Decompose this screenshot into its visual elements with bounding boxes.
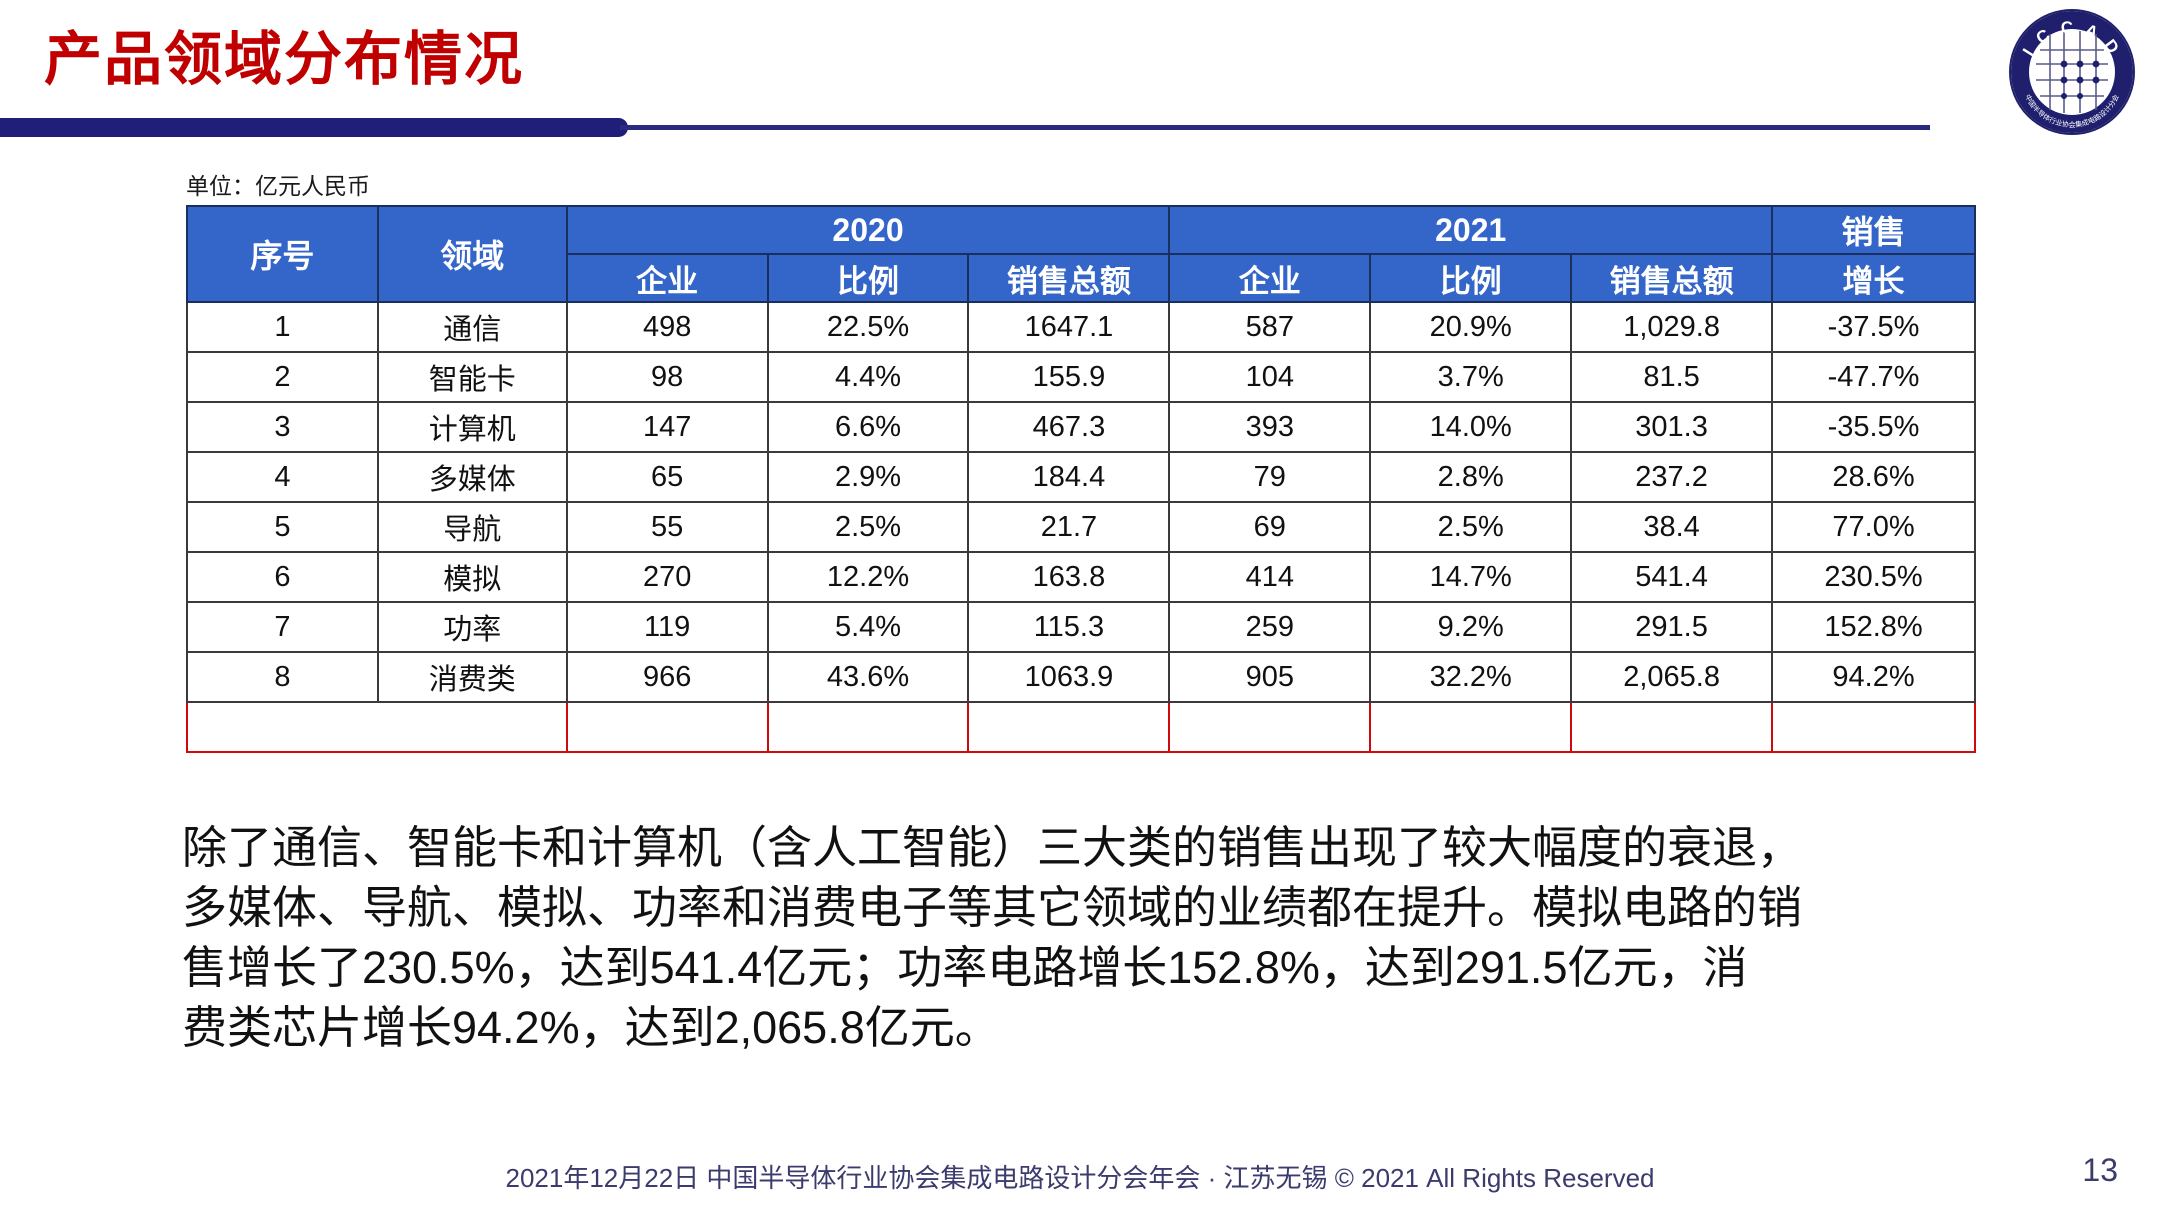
body-line-3: 售增长了230.5%，达到541.4亿元；功率电路增长152.8%，达到291.… — [182, 938, 2002, 998]
cell-growth: -47.7% — [1772, 352, 1975, 402]
cell-2020-ratio: 43.6% — [768, 652, 969, 702]
col-header-index: 序号 — [187, 206, 378, 302]
cell-field: 多媒体 — [378, 452, 567, 502]
cell-growth: 77.0% — [1772, 502, 1975, 552]
cell-2020-enterprises: 966 — [567, 652, 768, 702]
cell-total-2021-ratio: 100.0% — [1370, 702, 1571, 752]
cell-index: 3 — [187, 402, 378, 452]
cell-index: 2 — [187, 352, 378, 402]
product-field-table: 序号 领域 2020 2021 销售 企业 比例 销售总额 企业 比例 销售总额… — [186, 205, 1976, 753]
cell-2020-enterprises: 147 — [567, 402, 768, 452]
page-title: 产品领域分布情况 — [44, 12, 524, 96]
cell-2020-sales: 1647.1 — [968, 302, 1169, 352]
col-header-2020-enterprises: 企业 — [567, 254, 768, 302]
col-group-2020: 2020 — [567, 206, 1170, 254]
cell-2021-ratio: 3.7% — [1370, 352, 1571, 402]
cell-total-label: 总计 — [187, 702, 567, 752]
cell-field: 智能卡 — [378, 352, 567, 402]
cell-2020-sales: 184.4 — [968, 452, 1169, 502]
cell-2021-enterprises: 79 — [1169, 452, 1370, 502]
table-header: 序号 领域 2020 2021 销售 企业 比例 销售总额 企业 比例 销售总额… — [187, 206, 1975, 302]
cell-2021-ratio: 20.9% — [1370, 302, 1571, 352]
col-header-2021-enterprises: 企业 — [1169, 254, 1370, 302]
cell-2020-ratio: 2.9% — [768, 452, 969, 502]
cell-2021-ratio: 9.2% — [1370, 602, 1571, 652]
table-header-row-group: 序号 领域 2020 2021 销售 — [187, 206, 1975, 254]
col-header-2021-sales: 销售总额 — [1571, 254, 1772, 302]
iccad-logo: I C C A D 中国半导体行业协会集成电路设计分会 — [2006, 6, 2138, 138]
cell-growth: -37.5% — [1772, 302, 1975, 352]
body-line-4: 费类芯片增长94.2%，达到2,065.8亿元。 — [182, 998, 2002, 1058]
cell-index: 7 — [187, 602, 378, 652]
cell-2021-sales: 237.2 — [1571, 452, 1772, 502]
table-row: 1 通信 498 22.5% 1647.1 587 20.9% 1,029.8 … — [187, 302, 1975, 352]
table-total-row: 总计 2218 100.0% 3819.4 2810 100.0% 4,586.… — [187, 702, 1975, 752]
cell-2021-enterprises: 905 — [1169, 652, 1370, 702]
table-row: 5 导航 55 2.5% 21.7 69 2.5% 38.4 77.0% — [187, 502, 1975, 552]
table-row: 3 计算机 147 6.6% 467.3 393 14.0% 301.3 -35… — [187, 402, 1975, 452]
cell-field: 计算机 — [378, 402, 567, 452]
cell-field: 功率 — [378, 602, 567, 652]
cell-total-2020-enterprises: 2218 — [567, 702, 768, 752]
page-number: 13 — [2082, 1152, 2118, 1189]
col-header-2020-sales: 销售总额 — [968, 254, 1169, 302]
iccad-logo-icon: I C C A D 中国半导体行业协会集成电路设计分会 — [2006, 6, 2138, 138]
body-line-1: 除了通信、智能卡和计算机（含人工智能）三大类的销售出现了较大幅度的衰退， — [182, 818, 2002, 878]
cell-2020-sales: 21.7 — [968, 502, 1169, 552]
cell-growth: -35.5% — [1772, 402, 1975, 452]
col-header-growth-bottom: 增长 — [1772, 254, 1975, 302]
cell-field: 消费类 — [378, 652, 567, 702]
cell-2021-enterprises: 587 — [1169, 302, 1370, 352]
footer-copyright: 2021年12月22日 中国半导体行业协会集成电路设计分会年会 · 江苏无锡 ©… — [0, 1158, 2160, 1195]
cell-2021-sales: 81.5 — [1571, 352, 1772, 402]
cell-2020-enterprises: 119 — [567, 602, 768, 652]
col-header-growth-top: 销售 — [1772, 206, 1975, 254]
cell-field: 模拟 — [378, 552, 567, 602]
cell-2020-enterprises: 98 — [567, 352, 768, 402]
cell-2021-ratio: 14.0% — [1370, 402, 1571, 452]
table-row: 6 模拟 270 12.2% 163.8 414 14.7% 541.4 230… — [187, 552, 1975, 602]
cell-2020-sales: 163.8 — [968, 552, 1169, 602]
col-group-2021: 2021 — [1169, 206, 1772, 254]
cell-2021-sales: 2,065.8 — [1571, 652, 1772, 702]
cell-index: 1 — [187, 302, 378, 352]
cell-field: 通信 — [378, 302, 567, 352]
cell-2020-sales: 467.3 — [968, 402, 1169, 452]
cell-2020-sales: 115.3 — [968, 602, 1169, 652]
cell-2020-enterprises: 270 — [567, 552, 768, 602]
cell-index: 4 — [187, 452, 378, 502]
data-table: 序号 领域 2020 2021 销售 企业 比例 销售总额 企业 比例 销售总额… — [186, 205, 1976, 753]
cell-2021-sales: 291.5 — [1571, 602, 1772, 652]
table-row: 8 消费类 966 43.6% 1063.9 905 32.2% 2,065.8… — [187, 652, 1975, 702]
cell-total-growth: 100.0% — [1772, 702, 1975, 752]
cell-field: 导航 — [378, 502, 567, 552]
table-body: 1 通信 498 22.5% 1647.1 587 20.9% 1,029.8 … — [187, 302, 1975, 752]
cell-index: 8 — [187, 652, 378, 702]
cell-2021-ratio: 2.5% — [1370, 502, 1571, 552]
cell-2020-enterprises: 55 — [567, 502, 768, 552]
cell-index: 5 — [187, 502, 378, 552]
cell-2020-enterprises: 65 — [567, 452, 768, 502]
cell-index: 6 — [187, 552, 378, 602]
cell-growth: 94.2% — [1772, 652, 1975, 702]
cell-2021-enterprises: 104 — [1169, 352, 1370, 402]
title-accent-bar — [0, 118, 628, 137]
table-row: 7 功率 119 5.4% 115.3 259 9.2% 291.5 152.8… — [187, 602, 1975, 652]
cell-2020-sales: 1063.9 — [968, 652, 1169, 702]
cell-2021-sales: 301.3 — [1571, 402, 1772, 452]
cell-2020-ratio: 5.4% — [768, 602, 969, 652]
title-accent-rule — [620, 125, 1930, 130]
cell-2020-ratio: 6.6% — [768, 402, 969, 452]
cell-2021-enterprises: 393 — [1169, 402, 1370, 452]
cell-2021-ratio: 14.7% — [1370, 552, 1571, 602]
table-row: 4 多媒体 65 2.9% 184.4 79 2.8% 237.2 28.6% — [187, 452, 1975, 502]
col-header-2021-ratio: 比例 — [1370, 254, 1571, 302]
cell-2021-sales: 1,029.8 — [1571, 302, 1772, 352]
cell-2020-ratio: 22.5% — [768, 302, 969, 352]
body-line-2: 多媒体、导航、模拟、功率和消费电子等其它领域的业绩都在提升。模拟电路的销 — [182, 878, 2002, 938]
unit-note: 单位：亿元人民币 — [186, 167, 370, 201]
cell-2020-ratio: 12.2% — [768, 552, 969, 602]
cell-2020-enterprises: 498 — [567, 302, 768, 352]
cell-2021-sales: 38.4 — [1571, 502, 1772, 552]
cell-2021-enterprises: 414 — [1169, 552, 1370, 602]
table-row: 2 智能卡 98 4.4% 155.9 104 3.7% 81.5 -47.7% — [187, 352, 1975, 402]
cell-total-2020-sales: 3819.4 — [968, 702, 1169, 752]
body-paragraph: 除了通信、智能卡和计算机（含人工智能）三大类的销售出现了较大幅度的衰退， 多媒体… — [182, 818, 2002, 1058]
cell-2020-ratio: 2.5% — [768, 502, 969, 552]
cell-2021-enterprises: 259 — [1169, 602, 1370, 652]
col-header-field: 领域 — [378, 206, 567, 302]
cell-2021-ratio: 32.2% — [1370, 652, 1571, 702]
cell-growth: 28.6% — [1772, 452, 1975, 502]
cell-2021-sales: 541.4 — [1571, 552, 1772, 602]
cell-total-2020-ratio: 100.0% — [768, 702, 969, 752]
cell-growth: 230.5% — [1772, 552, 1975, 602]
cell-2020-sales: 155.9 — [968, 352, 1169, 402]
cell-2020-ratio: 4.4% — [768, 352, 969, 402]
cell-total-2021-enterprises: 2810 — [1169, 702, 1370, 752]
cell-growth: 152.8% — [1772, 602, 1975, 652]
cell-2021-enterprises: 69 — [1169, 502, 1370, 552]
cell-total-2021-sales: 4,586.9 — [1571, 702, 1772, 752]
cell-2021-ratio: 2.8% — [1370, 452, 1571, 502]
col-header-2020-ratio: 比例 — [768, 254, 969, 302]
